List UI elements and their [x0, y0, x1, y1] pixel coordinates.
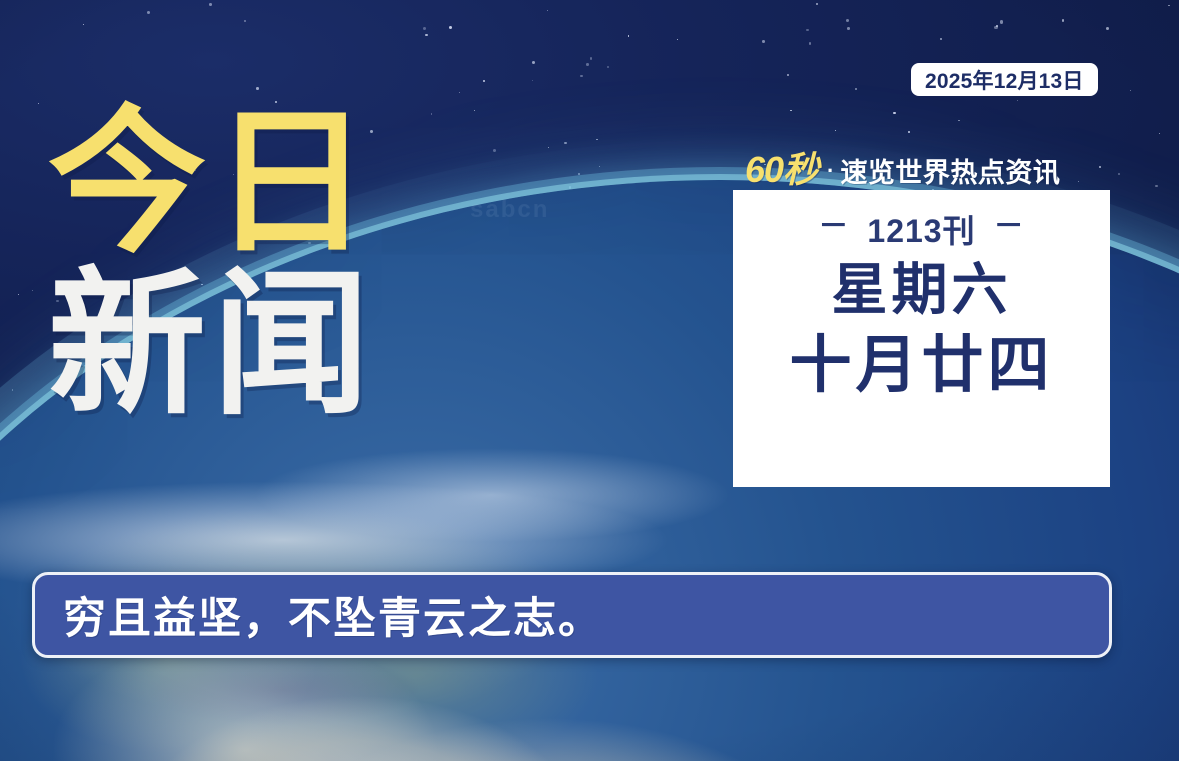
quote-text: 穷且益坚，不坠青云之志。 [35, 584, 603, 646]
lunar-date-label: 十月廿四 [789, 332, 1053, 400]
masthead-line-2: 新闻 [48, 270, 376, 422]
quote-banner: 穷且益坚，不坠青云之志。 [32, 572, 1112, 658]
masthead-title: 今日 新闻 [48, 108, 376, 421]
tagline-separator: · [827, 158, 834, 184]
tagline-duration: 60秒 [745, 141, 818, 193]
tagline: 60秒 · 速览世界热点资讯 [745, 141, 1060, 193]
date-badge: 2025年12月13日 [911, 63, 1098, 96]
issue-dash-left: － [818, 212, 849, 242]
weekday-label: 星期六 [832, 258, 1012, 322]
tagline-description: 速览世界热点资讯 [840, 151, 1060, 190]
issue-dash-right: － [994, 212, 1025, 242]
issue-info-card: － 1213刊 － 星期六 十月廿四 [733, 190, 1110, 487]
masthead-line-1: 今日 [48, 108, 376, 260]
poster-canvas: sabcn 2025年12月13日 60秒 · 速览世界热点资讯 － 1213刊… [0, 0, 1179, 761]
issue-row: － 1213刊 － [818, 206, 1024, 252]
date-badge-label: 2025年12月13日 [925, 65, 1084, 95]
issue-number: 1213刊 [867, 206, 975, 252]
